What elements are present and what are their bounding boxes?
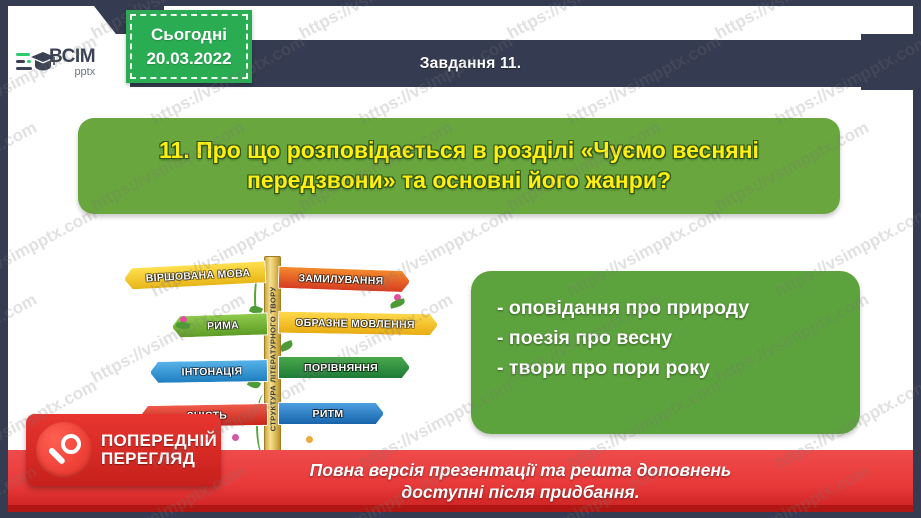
header-right-block [861,34,913,90]
answer-item: - оповідання про природу [497,293,860,323]
answer-box: - оповідання про природу - поезія про ве… [471,271,860,434]
slide-root: Завдання 11. ВСІМ pptx Сьогодні 20.03.20… [0,0,921,518]
banner-footer-strip [8,505,913,512]
answer-item: - поезія про весну [497,323,860,353]
signpost-post-label: СТРУКТУРА ЛІТЕРАТУРНОГО ТВОРУ [268,286,277,431]
sign-label: РИТМ [313,408,344,420]
answer-item: - твори про пори року [497,353,860,383]
sign-label: ОБРАЗНЕ МОВЛЕННЯ [295,316,415,330]
date-badge-label: Сьогодні [151,25,227,45]
flower-icon [306,436,313,443]
banner-line-1: Повна версія презентації та решта доповн… [310,459,732,481]
sign-right-4: РИТМ [278,402,384,425]
graduation-cap-icon [16,47,44,77]
sign-left-3: ІНТОНАЦІЯ [150,359,268,384]
magnifier-icon [36,422,92,478]
sign-label: ЗАМИЛУВАННЯ [298,272,383,287]
sign-label: ПОРІВНЯННЯ [304,362,378,374]
date-badge: Сьогодні 20.03.2022 [126,10,252,83]
sign-right-3: ПОРІВНЯННЯ [278,356,410,379]
question-text: 11. Про що розповідається в розділі «Чує… [104,136,814,196]
date-badge-value: 20.03.2022 [146,49,231,69]
preview-badge[interactable]: ПОПЕРЕДНІЙ ПЕРЕГЛЯД [26,414,221,486]
flower-icon [232,434,239,441]
banner-line-2: доступні після придбання. [310,481,732,503]
logo[interactable]: ВСІМ pptx [8,34,130,90]
sign-label: ІНТОНАЦІЯ [181,365,242,378]
question-box: 11. Про що розповідається в розділі «Чує… [78,118,840,214]
slide-canvas: Завдання 11. ВСІМ pptx Сьогодні 20.03.20… [8,6,913,512]
sign-left-1: ВІРШОВАНА МОВА [123,260,266,290]
preview-badge-line-2: ПЕРЕГЛЯД [101,450,217,468]
sign-label: РИМА [207,319,239,332]
preview-badge-line-1: ПОПЕРЕДНІЙ [101,432,217,450]
sign-label: ВІРШОВАНА МОВА [145,267,250,284]
sign-right-2: ОБРАЗНЕ МОВЛЕННЯ [278,311,438,337]
sign-right-1: ЗАМИЛУВАННЯ [278,266,411,294]
